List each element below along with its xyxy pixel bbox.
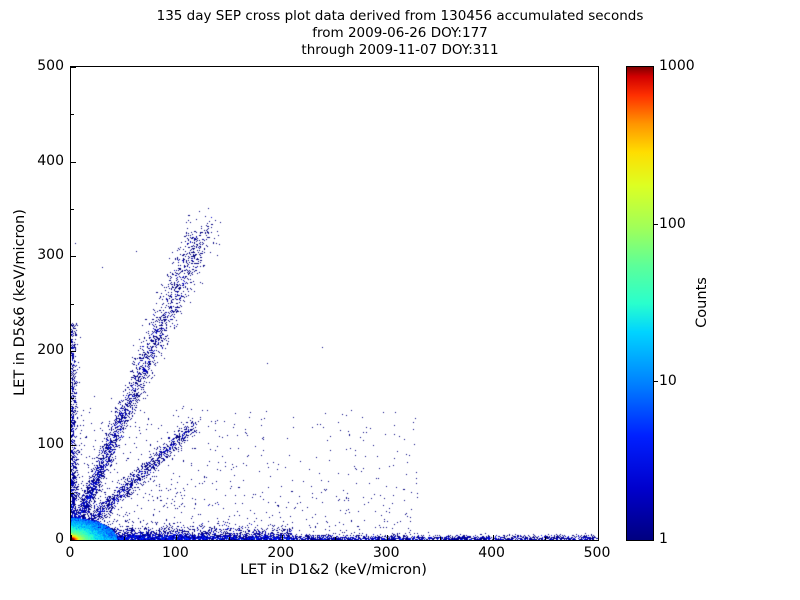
colorbar-tick-label: 1000	[659, 58, 695, 74]
figure-canvas: 135 day SEP cross plot data derived from…	[0, 0, 800, 600]
scatter-plot-canvas	[71, 67, 598, 540]
colorbar-label: Counts	[694, 66, 714, 539]
y-major-tick	[71, 67, 76, 68]
x-tick-label: 500	[584, 545, 611, 561]
x-tick-label: 0	[66, 545, 75, 561]
x-tick-label: 400	[478, 545, 505, 561]
y-major-tick	[71, 540, 76, 541]
x-tick-label: 200	[267, 545, 294, 561]
x-major-tick	[598, 535, 599, 540]
x-minor-tick	[335, 537, 336, 540]
y-major-tick	[71, 351, 76, 352]
x-minor-tick	[440, 537, 441, 540]
x-tick-label: 300	[373, 545, 400, 561]
x-minor-tick	[229, 537, 230, 540]
x-major-tick	[176, 535, 177, 540]
x-minor-tick	[124, 537, 125, 540]
x-tick-label: 100	[162, 545, 189, 561]
y-minor-tick	[71, 304, 74, 305]
chart-title: 135 day SEP cross plot data derived from…	[0, 8, 800, 59]
y-major-tick	[71, 256, 76, 257]
plot-area	[70, 66, 599, 541]
x-major-tick	[282, 535, 283, 540]
title-line-3: through 2009-11-07 DOY:311	[0, 42, 800, 59]
x-major-tick	[493, 535, 494, 540]
y-major-tick	[71, 445, 76, 446]
x-major-tick	[387, 535, 388, 540]
y-minor-tick	[71, 493, 74, 494]
y-major-tick	[71, 162, 76, 163]
y-minor-tick	[71, 398, 74, 399]
x-axis-label: LET in D1&2 (keV/micron)	[70, 562, 597, 578]
colorbar-tick-label: 10	[659, 373, 677, 389]
colorbar-tick-label: 100	[659, 216, 686, 232]
title-line-1: 135 day SEP cross plot data derived from…	[0, 8, 800, 25]
y-minor-tick	[71, 209, 74, 210]
x-minor-tick	[545, 537, 546, 540]
title-line-2: from 2009-06-26 DOY:177	[0, 25, 800, 42]
colorbar-tick	[653, 381, 658, 382]
y-axis-label: LET in D5&6 (keV/micron)	[12, 66, 34, 539]
colorbar	[626, 66, 654, 541]
colorbar-gradient	[627, 67, 653, 540]
colorbar-tick	[653, 224, 658, 225]
colorbar-tick-label: 1	[659, 531, 668, 547]
y-minor-tick	[71, 114, 74, 115]
